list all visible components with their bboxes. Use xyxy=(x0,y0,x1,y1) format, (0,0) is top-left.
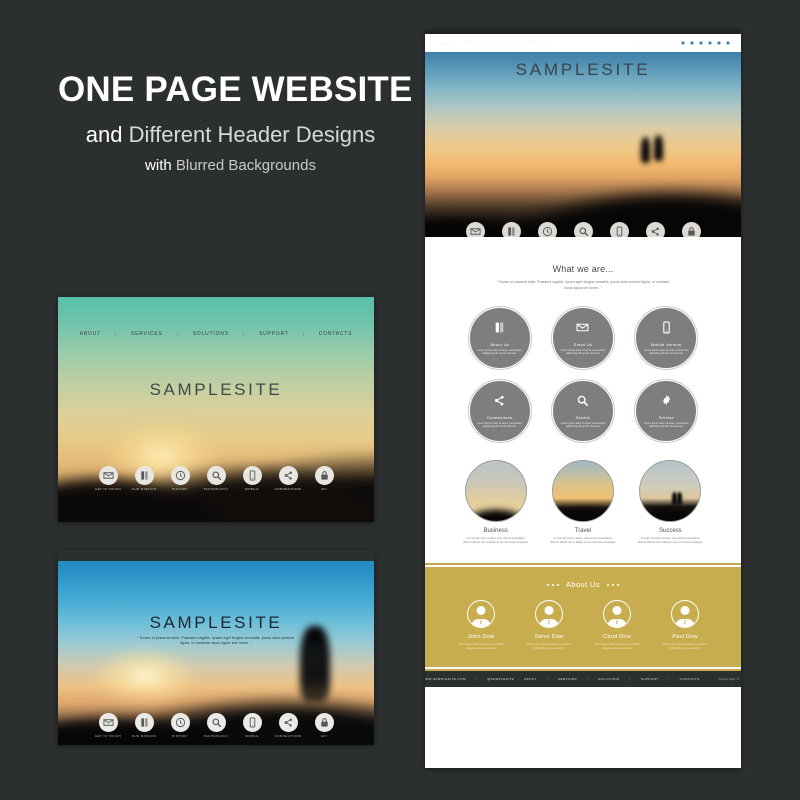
icon-cell-book[interactable]: OUR MISSION xyxy=(126,466,162,491)
page-content: What we are... “ Donec ut placerat nulla… xyxy=(425,237,741,768)
icon-cell-share[interactable]: CONNECTIONS xyxy=(637,222,673,237)
icon-cell-share[interactable]: CONNECTIONS xyxy=(270,713,306,738)
icon-cell-search[interactable]: TECHNOLOGY xyxy=(198,466,234,491)
icon-label: CONNECTIONS xyxy=(270,488,306,491)
nav-separator: | xyxy=(519,41,520,45)
icon-label: TECHNOLOGY xyxy=(198,735,234,738)
icon-label: API xyxy=(306,735,342,738)
photo-circle[interactable] xyxy=(639,460,701,522)
headline-tertiary-text: Blurred Backgrounds xyxy=(176,157,316,174)
share-icon xyxy=(493,394,506,412)
book-icon[interactable] xyxy=(135,713,154,732)
footer-copyright: Copyright © 2015 xyxy=(705,677,741,681)
icon-cell-search[interactable]: TECHNOLOGY xyxy=(198,713,234,738)
photo-circle[interactable] xyxy=(552,460,614,522)
search-icon[interactable] xyxy=(574,222,593,237)
what-we-are-title: What we are... xyxy=(425,264,741,274)
social-icons[interactable] xyxy=(679,40,731,47)
page-footer[interactable]: WWW.SAMPLESITE.COM|@SAMPLESITEABOUT|SERV… xyxy=(425,671,741,687)
nav-separator: | xyxy=(488,41,489,45)
nav-separator: | xyxy=(457,41,458,45)
team-member-name: Steve Dow xyxy=(517,634,581,640)
icon-cell-clock[interactable]: HISTORY xyxy=(162,466,198,491)
footer-link-support[interactable]: SUPPORT xyxy=(636,677,664,681)
nav-link-contact[interactable]: CONTACT xyxy=(489,41,519,45)
envelope-icon[interactable] xyxy=(99,466,118,485)
icon-cell-book[interactable]: OUR MISSION xyxy=(126,713,162,738)
footer-separator: | xyxy=(625,677,636,681)
twitter-icon[interactable] xyxy=(688,40,695,47)
photo-blob xyxy=(552,501,614,522)
book-icon xyxy=(493,321,506,339)
avatar-head xyxy=(613,606,622,615)
linkedin-icon[interactable] xyxy=(706,40,713,47)
photo-card-business[interactable]: BusinessUt enim ad minim veniam, quis no… xyxy=(457,460,535,545)
footer-separator: | xyxy=(542,677,553,681)
photo-card-desc: Ut enim ad minim veniam, quis nostrud ex… xyxy=(457,537,535,545)
page-hero: SAMPLESITE GET IN TOUCHOUR MISSIONHISTOR… xyxy=(425,52,741,237)
search-icon xyxy=(576,394,589,412)
team-member-desc: Lorem ipsum dolor sit amet, consectetur … xyxy=(449,643,513,651)
footer-site-url[interactable]: WWW.SAMPLESITE.COM xyxy=(425,677,471,681)
feature-circle-service[interactable]: ServiceLorem ipsum dolor sit amet, conse… xyxy=(635,380,697,442)
figure-silhouette xyxy=(672,492,677,505)
feature-title: About Us xyxy=(490,342,509,347)
feature-title: Connections xyxy=(487,415,513,420)
about-us-section: About Us iJohn DowLorem ipsum dolor sit … xyxy=(425,567,741,667)
icon-cell-clock[interactable]: HISTORY xyxy=(529,222,565,237)
team-member-desc: Lorem ipsum dolor sit amet, consectetur … xyxy=(517,643,581,651)
footer-separator: | xyxy=(471,677,482,681)
figure-silhouette-2 xyxy=(677,492,682,505)
photo-card-success[interactable]: SuccessUt enim ad minim veniam, quis nos… xyxy=(631,460,709,545)
nav-link-solutions[interactable]: SOLUTIONS xyxy=(179,331,243,337)
headline-tertiary: with Blurred Backgrounds xyxy=(58,157,403,174)
icon-label: GET IN TOUCH xyxy=(90,735,126,738)
what-we-are-text: “ Donec ut placerat nulla. Praesent sagi… xyxy=(493,280,673,291)
team-member[interactable]: iCarol DowLorem ipsum dolor sit amet, co… xyxy=(585,600,649,651)
mockup-header-teal[interactable]: ABOUT|SERVICES|SOLUTIONS|SUPPORT|CONTACT… xyxy=(58,297,374,522)
icon-label: MOBILE xyxy=(234,735,270,738)
about-section-wrap: About Us iJohn DowLorem ipsum dolor sit … xyxy=(425,563,741,671)
nav-separator: | xyxy=(243,331,245,337)
nav-link-sitemap[interactable]: SITEMAP xyxy=(459,41,488,45)
photo-blob xyxy=(465,501,527,522)
team-member-name: Carol Dow xyxy=(585,634,649,640)
mockup-b-brand: SAMPLESITE xyxy=(58,613,374,633)
icon-label: CONNECTIONS xyxy=(270,735,306,738)
feature-desc: Lorem ipsum dolor sit amet, consectetur … xyxy=(560,422,606,429)
footer-separator: | xyxy=(663,677,674,681)
avatar: i xyxy=(671,600,699,628)
mockup-b-topbar xyxy=(58,550,374,561)
photo-card-row[interactable]: BusinessUt enim ad minim veniam, quis no… xyxy=(452,460,714,545)
icon-label: GET IN TOUCH xyxy=(90,488,126,491)
search-icon[interactable] xyxy=(207,713,226,732)
team-member-desc: Lorem ipsum dolor sit amet, consectetur … xyxy=(585,643,649,651)
icon-cell-envelope[interactable]: GET IN TOUCH xyxy=(90,466,126,491)
clock-icon[interactable] xyxy=(171,466,190,485)
team-member[interactable]: iJohn DowLorem ipsum dolor sit amet, con… xyxy=(449,600,513,651)
headline-secondary: and Different Header Designs xyxy=(58,123,403,147)
book-icon[interactable] xyxy=(135,466,154,485)
mockup-a-icon-strip[interactable]: GET IN TOUCHOUR MISSIONHISTORYTECHNOLOGY… xyxy=(58,466,374,491)
mockup-a-navbar[interactable]: ABOUT|SERVICES|SOLUTIONS|SUPPORT|CONTACT… xyxy=(58,323,374,345)
envelope-icon[interactable] xyxy=(466,222,485,237)
feature-title: Email Us xyxy=(574,342,592,347)
team-member-desc: Lorem ipsum dolor sit amet, consectetur … xyxy=(653,643,717,651)
avatar-head xyxy=(545,606,554,615)
avatar: i xyxy=(535,600,563,628)
nav-separator: | xyxy=(303,331,305,337)
facebook-icon[interactable] xyxy=(679,40,686,47)
phone-icon xyxy=(660,321,673,339)
icon-label: HISTORY xyxy=(162,735,198,738)
page-navbar[interactable]: HOME|SITEMAP|CONTACT|PURCHASE Call Us: +… xyxy=(425,34,741,52)
team-row[interactable]: iJohn DowLorem ipsum dolor sit amet, con… xyxy=(447,600,719,651)
rss-icon[interactable] xyxy=(715,40,722,47)
photo-blob xyxy=(639,501,701,522)
photo-card-desc: Ut enim ad minim veniam, quis nostrud ex… xyxy=(631,537,709,545)
team-member[interactable]: iPaul DowLorem ipsum dolor sit amet, con… xyxy=(653,600,717,651)
nav-separator: | xyxy=(177,331,179,337)
feature-desc: Lorem ipsum dolor sit amet, consectetur … xyxy=(643,349,689,356)
photo-card-title: Business xyxy=(457,528,535,534)
feature-title: Mobile Version xyxy=(651,342,681,347)
search-icon[interactable] xyxy=(207,466,226,485)
team-member-name: John Dow xyxy=(449,634,513,640)
phone-icon[interactable] xyxy=(610,222,629,237)
mockup-a-brand: SAMPLESITE xyxy=(58,380,374,400)
lock-icon[interactable] xyxy=(682,222,701,237)
icon-label: HISTORY xyxy=(162,488,198,491)
icon-cell-phone[interactable]: MOBILE xyxy=(601,222,637,237)
nav-link-about[interactable]: ABOUT xyxy=(66,331,115,337)
clock-icon[interactable] xyxy=(171,713,190,732)
page-nav-links[interactable]: HOME|SITEMAP|CONTACT|PURCHASE xyxy=(435,41,554,45)
clock-icon[interactable] xyxy=(538,222,557,237)
headline-secondary-lead: and xyxy=(86,122,129,147)
page-brand: SAMPLESITE xyxy=(425,60,741,80)
feature-title: Service xyxy=(659,415,674,420)
mockup-b-icon-strip[interactable]: GET IN TOUCHOUR MISSIONHISTORYTECHNOLOGY… xyxy=(58,713,374,738)
icon-cell-envelope[interactable]: GET IN TOUCH xyxy=(90,713,126,738)
feature-desc: Lorem ipsum dolor sit amet, consectetur … xyxy=(560,349,606,356)
feature-title: Search xyxy=(576,415,590,420)
photo-card-title: Travel xyxy=(544,528,622,534)
page-phone: Call Us: +1 234 567 89 xyxy=(636,41,675,45)
icon-label: API xyxy=(306,488,342,491)
feature-circle-mobile-version[interactable]: Mobile VersionLorem ipsum dolor sit amet… xyxy=(635,307,697,369)
info-icon: i xyxy=(480,619,482,626)
footer-separator: | xyxy=(582,677,593,681)
photo-card-title: Success xyxy=(631,528,709,534)
icon-label: OUR MISSION xyxy=(126,488,162,491)
info-icon: i xyxy=(548,619,550,626)
team-member[interactable]: iSteve DowLorem ipsum dolor sit amet, co… xyxy=(517,600,581,651)
book-icon[interactable] xyxy=(502,222,521,237)
icon-cell-search[interactable]: TECHNOLOGY xyxy=(565,222,601,237)
figure-silhouette-left xyxy=(641,137,650,163)
feature-circle-search[interactable]: SearchLorem ipsum dolor sit amet, consec… xyxy=(552,380,614,442)
footer-link-services[interactable]: SERVICES xyxy=(553,677,582,681)
feature-desc: Lorem ipsum dolor sit amet, consectetur … xyxy=(477,422,523,429)
headline-tertiary-lead: with xyxy=(145,157,176,174)
icon-cell-lock[interactable]: API xyxy=(673,222,709,237)
feature-circle-connections[interactable]: ConnectionsLorem ipsum dolor sit amet, c… xyxy=(469,380,531,442)
footer-email[interactable]: @SAMPLESITE xyxy=(482,677,519,681)
headline-primary: ONE PAGE WEBSITE xyxy=(58,72,403,109)
envelope-icon[interactable] xyxy=(99,713,118,732)
icon-label: TECHNOLOGY xyxy=(198,488,234,491)
nav-link-services[interactable]: SERVICES xyxy=(117,331,177,337)
photo-card-desc: Ut enim ad minim veniam, quis nostrud ex… xyxy=(544,537,622,545)
footer-link-contacts[interactable]: CONTACTS xyxy=(675,677,705,681)
mockup-b-tagline: “ Donec ut placerat nulla. Praesent sagi… xyxy=(132,636,300,647)
pinterest-icon[interactable] xyxy=(724,40,731,47)
avatar-head xyxy=(477,606,486,615)
mockup-header-blue[interactable]: SAMPLESITE “ Donec ut placerat nulla. Pr… xyxy=(58,550,374,745)
page-nav-right[interactable]: Call Us: +1 234 567 89 xyxy=(636,40,731,47)
page-icon-strip[interactable]: GET IN TOUCHOUR MISSIONHISTORYTECHNOLOGY… xyxy=(425,222,741,237)
share-icon[interactable] xyxy=(279,466,298,485)
footer-link-about[interactable]: ABOUT xyxy=(519,677,542,681)
feature-circle-email-us[interactable]: Email UsLorem ipsum dolor sit amet, cons… xyxy=(552,307,614,369)
gear-icon xyxy=(660,394,673,412)
about-us-heading: About Us xyxy=(425,580,741,589)
nav-link-contacts[interactable]: CONTACTS xyxy=(305,331,367,337)
icon-cell-envelope[interactable]: GET IN TOUCH xyxy=(457,222,493,237)
info-icon: i xyxy=(684,619,686,626)
phone-icon[interactable] xyxy=(243,713,262,732)
avatar: i xyxy=(603,600,631,628)
figure-silhouette-right xyxy=(654,135,663,161)
icon-label: OUR MISSION xyxy=(126,735,162,738)
about-us-title: About Us xyxy=(566,580,600,589)
avatar-head xyxy=(681,606,690,615)
icon-cell-book[interactable]: OUR MISSION xyxy=(493,222,529,237)
icon-cell-phone[interactable]: MOBILE xyxy=(234,466,270,491)
photo-circle[interactable] xyxy=(465,460,527,522)
headline-secondary-text: Different Header Designs xyxy=(129,122,376,147)
google-plus-icon[interactable] xyxy=(697,40,704,47)
feature-circle-grid[interactable]: About UsLorem ipsum dolor sit amet, cons… xyxy=(458,307,708,442)
phone-icon[interactable] xyxy=(243,466,262,485)
footer-link-solutions[interactable]: SOLUTIONS xyxy=(593,677,624,681)
feature-circle-about-us[interactable]: About UsLorem ipsum dolor sit amet, cons… xyxy=(469,307,531,369)
share-icon[interactable] xyxy=(646,222,665,237)
team-member-name: Paul Dow xyxy=(653,634,717,640)
info-icon: i xyxy=(616,619,618,626)
icon-cell-clock[interactable]: HISTORY xyxy=(162,713,198,738)
person-silhouette xyxy=(300,626,330,702)
share-icon[interactable] xyxy=(279,713,298,732)
dots-right-icon xyxy=(607,584,619,586)
dots-left-icon xyxy=(547,584,559,586)
headline-block: ONE PAGE WEBSITE and Different Header De… xyxy=(58,72,403,174)
icon-cell-lock[interactable]: API xyxy=(306,713,342,738)
photo-card-travel[interactable]: TravelUt enim ad minim veniam, quis nost… xyxy=(544,460,622,545)
nav-separator: | xyxy=(115,331,117,337)
icon-cell-phone[interactable]: MOBILE xyxy=(234,713,270,738)
envelope-icon xyxy=(576,321,589,339)
feature-desc: Lorem ipsum dolor sit amet, consectetur … xyxy=(477,349,523,356)
nav-link-support[interactable]: SUPPORT xyxy=(245,331,303,337)
lock-icon[interactable] xyxy=(315,466,334,485)
icon-cell-lock[interactable]: API xyxy=(306,466,342,491)
icon-label: MOBILE xyxy=(234,488,270,491)
avatar: i xyxy=(467,600,495,628)
lock-icon[interactable] xyxy=(315,713,334,732)
feature-desc: Lorem ipsum dolor sit amet, consectetur … xyxy=(643,422,689,429)
icon-cell-share[interactable]: CONNECTIONS xyxy=(270,466,306,491)
nav-link-purchase[interactable]: PURCHASE xyxy=(520,41,553,45)
nav-link-home[interactable]: HOME xyxy=(435,41,457,45)
mockup-full-page[interactable]: HOME|SITEMAP|CONTACT|PURCHASE Call Us: +… xyxy=(425,30,741,768)
